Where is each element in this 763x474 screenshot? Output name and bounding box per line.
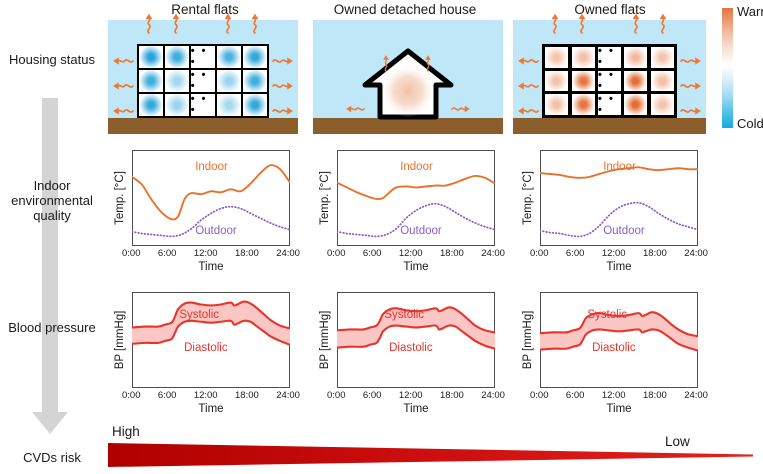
temperature-blob: [165, 94, 189, 117]
chart-temp-rental-flats: Temp. [°C]0:006:0012:0018:0024:00TimeInd…: [132, 150, 290, 280]
ellipsis-indicator: • • •: [191, 94, 215, 116]
temperature-blob: [139, 94, 163, 117]
heat-loss-arrow: [658, 13, 667, 33]
indoor-line: [132, 165, 290, 219]
heat-loss-arrow: [224, 13, 233, 33]
flat-unit: [139, 46, 163, 69]
row-label-cvds-risk: CVDs risk: [2, 450, 102, 465]
temperature-blob: [651, 71, 674, 91]
x-tick-label: 18:00: [235, 248, 259, 259]
ellipsis-indicator: • • •: [598, 47, 621, 67]
flat-unit: [139, 70, 163, 93]
series-label-diastolic: Diastolic: [592, 342, 635, 354]
y-axis-label: Temp. [°C]: [114, 171, 126, 225]
x-tick-label: 24:00: [684, 390, 708, 401]
x-axis-ticks: 0:006:0012:0018:0024:00: [327, 390, 505, 401]
temperature-blob: [165, 70, 189, 93]
heat-loss-arrow: [145, 13, 154, 33]
x-tick-label: 18:00: [440, 248, 464, 259]
series-label-outdoor: Outdoor: [603, 225, 645, 237]
chart-bp-rental-flats: BP [mmHg]0:006:0012:0018:0024:00TimeSyst…: [132, 292, 290, 422]
column-header-rental-flats: Rental flats: [110, 2, 300, 17]
temperature-blob: [217, 94, 241, 117]
y-axis-label: Temp. [°C]: [522, 171, 534, 225]
building-grid-rental-flats: • • •• • •• • •: [137, 44, 269, 118]
x-tick-label: 12:00: [194, 390, 218, 401]
heat-loss-arrow: [112, 106, 133, 116]
series-label-systolic: Systolic: [179, 309, 219, 321]
colorbar-warm-label: Warm: [737, 4, 763, 19]
row-label-blood-pressure: Blood pressure: [2, 320, 102, 335]
series-label-systolic: Systolic: [587, 309, 627, 321]
ground-strip-owned-detached-house: [313, 118, 503, 134]
plot-canvas: [337, 292, 495, 388]
x-axis-label: Time: [337, 261, 495, 273]
flat-unit: • • •: [191, 46, 215, 69]
x-axis-ticks: 0:006:0012:0018:0024:00: [122, 248, 300, 259]
flat-unit: • • •: [191, 94, 215, 117]
heat-loss-arrow: [452, 105, 471, 114]
heat-loss-arrow: [517, 81, 538, 91]
temperature-colorbar: [722, 8, 733, 128]
x-tick-label: 12:00: [602, 248, 626, 259]
series-label-indoor: Indoor: [603, 161, 636, 173]
flat-unit: [545, 47, 568, 67]
flat-unit: [624, 94, 647, 114]
heat-loss-arrow: [112, 81, 133, 91]
x-tick-label: 0:00: [530, 248, 549, 259]
x-tick-label: 0:00: [327, 390, 346, 401]
heat-loss-arrow: [681, 81, 702, 91]
chart-temp-owned-detached-house: Temp. [°C]0:006:0012:0018:0024:00TimeInd…: [337, 150, 495, 280]
flat-unit: [243, 94, 267, 117]
temperature-blob: [572, 47, 595, 67]
x-axis-label: Time: [132, 403, 290, 415]
flat-unit: • • •: [598, 47, 621, 67]
x-tick-label: 18:00: [643, 390, 667, 401]
y-axis-label: BP [mmHg]: [114, 311, 126, 370]
flat-unit: [624, 71, 647, 91]
temperature-blob: [165, 46, 189, 69]
flat-unit: [651, 47, 674, 67]
temperature-blob: [243, 46, 267, 69]
series-label-diastolic: Diastolic: [389, 342, 432, 354]
x-tick-label: 6:00: [566, 248, 585, 259]
flat-unit: [572, 47, 595, 67]
flat-unit: [217, 46, 241, 69]
flat-unit: [651, 94, 674, 114]
x-tick-label: 6:00: [363, 390, 382, 401]
heat-loss-arrow: [681, 106, 702, 116]
x-tick-label: 18:00: [643, 248, 667, 259]
flat-unit: [165, 70, 189, 93]
x-tick-label: 0:00: [327, 248, 346, 259]
flow-arrow-shaft: [42, 98, 58, 416]
chart-bp-owned-detached-house: BP [mmHg]0:006:0012:0018:0024:00TimeSyst…: [337, 292, 495, 422]
row-label-housing-status: Housing status: [2, 52, 102, 67]
x-axis-ticks: 0:006:0012:0018:0024:00: [122, 390, 300, 401]
temperature-blob: [139, 70, 163, 93]
temperature-blob: [545, 47, 568, 67]
temperature-blob: [651, 94, 674, 114]
x-tick-label: 0:00: [122, 248, 141, 259]
x-tick-label: 0:00: [122, 390, 141, 401]
heat-loss-arrow: [171, 13, 180, 33]
flat-unit: [165, 46, 189, 69]
flat-unit: [139, 94, 163, 117]
heat-loss-arrow: [517, 106, 538, 116]
heat-loss-arrow: [681, 57, 702, 67]
x-axis-label: Time: [337, 403, 495, 415]
y-axis-label: BP [mmHg]: [319, 311, 331, 370]
x-axis-label: Time: [132, 261, 290, 273]
x-tick-label: 6:00: [158, 390, 177, 401]
flat-unit: [545, 94, 568, 114]
temperature-blob: [545, 94, 568, 114]
x-tick-label: 24:00: [481, 248, 505, 259]
y-axis-label: Temp. [°C]: [319, 171, 331, 225]
temperature-blob: [139, 46, 163, 69]
chart-temp-owned-flats: Temp. [°C]0:006:0012:0018:0024:00TimeInd…: [540, 150, 698, 280]
flat-unit: • • •: [598, 71, 621, 91]
column-header-owned-flats: Owned flats: [510, 2, 710, 17]
y-axis-label: BP [mmHg]: [522, 311, 534, 370]
x-tick-label: 12:00: [399, 390, 423, 401]
x-axis-label: Time: [540, 261, 698, 273]
chart-bp-owned-flats: BP [mmHg]0:006:0012:0018:0024:00TimeSyst…: [540, 292, 698, 422]
flat-unit: [572, 94, 595, 114]
x-axis-label: Time: [540, 403, 698, 415]
x-tick-label: 24:00: [481, 390, 505, 401]
heat-loss-arrow: [631, 13, 640, 33]
series-label-systolic: Systolic: [384, 309, 424, 321]
x-axis-ticks: 0:006:0012:0018:0024:00: [530, 248, 708, 259]
x-tick-label: 12:00: [399, 248, 423, 259]
ellipsis-indicator: • • •: [191, 70, 215, 92]
heat-loss-arrow: [577, 13, 586, 33]
flat-unit: [165, 94, 189, 117]
x-axis-ticks: 0:006:0012:0018:0024:00: [327, 248, 505, 259]
x-tick-label: 24:00: [276, 248, 300, 259]
temperature-blob: [624, 47, 647, 67]
ellipsis-indicator: • • •: [598, 94, 621, 114]
x-axis-ticks: 0:006:0012:0018:0024:00: [530, 390, 708, 401]
flat-unit: • • •: [598, 94, 621, 114]
temperature-blob: [243, 70, 267, 93]
indoor-line: [337, 176, 495, 199]
flat-unit: [624, 47, 647, 67]
x-tick-label: 12:00: [194, 248, 218, 259]
series-label-outdoor: Outdoor: [400, 225, 442, 237]
temperature-blob: [572, 71, 595, 91]
temperature-blob: [624, 94, 647, 114]
heat-loss-arrow: [382, 55, 390, 72]
series-label-diastolic: Diastolic: [184, 342, 227, 354]
x-tick-label: 6:00: [363, 248, 382, 259]
flat-unit: [243, 46, 267, 69]
flat-unit: [217, 70, 241, 93]
heat-loss-arrow: [345, 105, 364, 114]
heat-loss-arrow: [517, 57, 538, 67]
building-grid-owned-flats: • • •• • •• • •: [542, 44, 677, 118]
temperature-blob: [545, 71, 568, 91]
colorbar-cold-label: Cold: [737, 116, 763, 131]
flat-unit: [572, 71, 595, 91]
x-tick-label: 6:00: [566, 390, 585, 401]
temperature-blob: [572, 94, 595, 114]
detached-house-shape: [362, 48, 454, 120]
x-tick-label: 18:00: [440, 390, 464, 401]
x-tick-label: 18:00: [235, 390, 259, 401]
flow-arrow-head: [32, 412, 68, 434]
row-label-indoor-environmental-quality: Indoor environmental quality: [2, 178, 102, 223]
temperature-blob: [243, 94, 267, 117]
x-tick-label: 6:00: [158, 248, 177, 259]
series-label-indoor: Indoor: [195, 161, 228, 173]
ground-strip-owned-flats: [513, 118, 706, 134]
heat-loss-arrow: [424, 55, 432, 72]
flat-unit: [243, 70, 267, 93]
heat-loss-arrow: [273, 57, 294, 67]
heat-loss-arrow: [273, 106, 294, 116]
plot-canvas: [132, 292, 290, 388]
x-tick-label: 24:00: [684, 248, 708, 259]
flat-unit: • • •: [191, 70, 215, 93]
flat-unit: [545, 71, 568, 91]
heat-loss-arrow: [250, 13, 259, 33]
temperature-blob: [217, 46, 241, 69]
ellipsis-indicator: • • •: [191, 46, 215, 68]
temperature-blob: [651, 47, 674, 67]
temperature-blob: [217, 70, 241, 93]
x-tick-label: 0:00: [530, 390, 549, 401]
ground-strip-rental-flats: [108, 118, 298, 134]
series-label-indoor: Indoor: [400, 161, 433, 173]
heat-loss-arrow: [112, 57, 133, 67]
heat-loss-arrow: [550, 13, 559, 33]
column-header-owned-detached-house: Owned detached house: [305, 2, 505, 17]
risk-high-label: High: [112, 424, 140, 439]
temperature-blob: [624, 71, 647, 91]
x-tick-label: 12:00: [602, 390, 626, 401]
plot-canvas: [540, 292, 698, 388]
heat-loss-arrow: [273, 81, 294, 91]
flat-unit: [217, 94, 241, 117]
cvds-risk-gradient-wedge: [108, 443, 758, 471]
flat-unit: [651, 71, 674, 91]
series-label-outdoor: Outdoor: [195, 225, 237, 237]
ellipsis-indicator: • • •: [598, 71, 621, 91]
x-tick-label: 24:00: [276, 390, 300, 401]
